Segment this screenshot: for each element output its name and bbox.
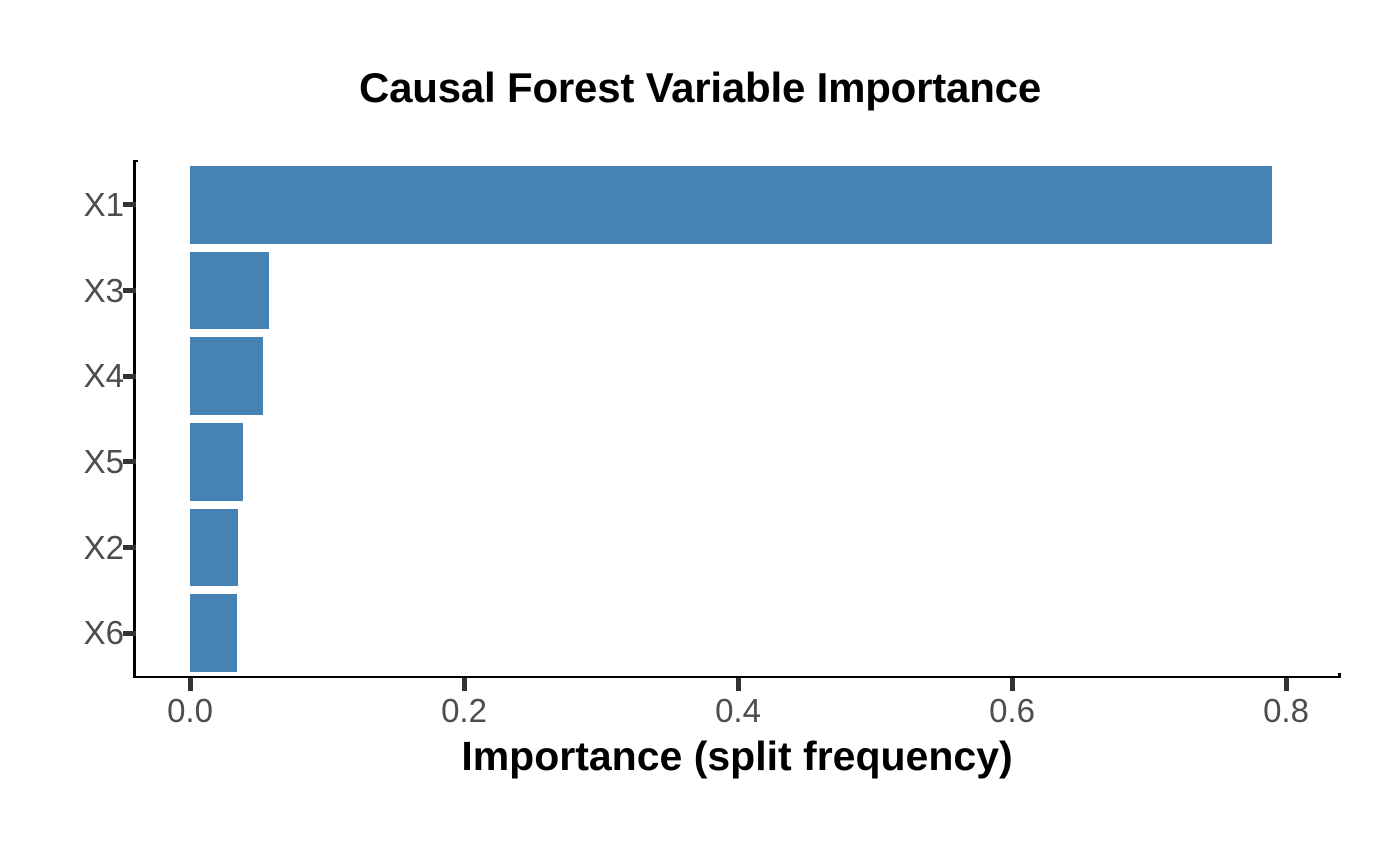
x-tick-mark-0 xyxy=(188,678,193,691)
y-tick-mark-x3 xyxy=(123,288,136,293)
bars-layer xyxy=(136,162,1338,676)
x-tick-mark-0-6 xyxy=(1010,678,1015,691)
y-tick-label-x2: X2 xyxy=(84,529,124,567)
y-tick-label-x6: X6 xyxy=(84,614,124,652)
bar-x1 xyxy=(190,166,1272,244)
bar-x3 xyxy=(190,252,269,330)
x-tick-label-0: 0.0 xyxy=(167,692,213,730)
chart-title: Causal Forest Variable Importance xyxy=(0,64,1400,112)
bar-x4 xyxy=(190,337,263,415)
y-tick-label-x1: X1 xyxy=(84,186,124,224)
x-tick-label-0-2: 0.2 xyxy=(441,692,487,730)
x-tick-mark-0-2 xyxy=(462,678,467,691)
x-tick-label-0-8: 0.8 xyxy=(1263,692,1309,730)
x-tick-mark-0-4 xyxy=(736,678,741,691)
y-tick-label-x4: X4 xyxy=(84,357,124,395)
y-tick-label-x5: X5 xyxy=(84,443,124,481)
x-tick-label-0-6: 0.6 xyxy=(989,692,1035,730)
y-tick-mark-x6 xyxy=(123,631,136,636)
x-axis-title: Importance (split frequency) xyxy=(136,733,1338,780)
chart-figure: Causal Forest Variable Importance X1X3X4… xyxy=(0,0,1400,865)
bar-x6 xyxy=(190,594,237,672)
y-tick-mark-x2 xyxy=(123,545,136,550)
x-tick-label-0-4: 0.4 xyxy=(715,692,761,730)
bar-x2 xyxy=(190,509,238,587)
y-tick-mark-x5 xyxy=(123,459,136,464)
y-tick-mark-x1 xyxy=(123,202,136,207)
y-tick-mark-x4 xyxy=(123,374,136,379)
plot-panel xyxy=(136,162,1338,676)
y-tick-label-x3: X3 xyxy=(84,272,124,310)
x-tick-mark-0-8 xyxy=(1284,678,1289,691)
bar-x5 xyxy=(190,423,243,501)
